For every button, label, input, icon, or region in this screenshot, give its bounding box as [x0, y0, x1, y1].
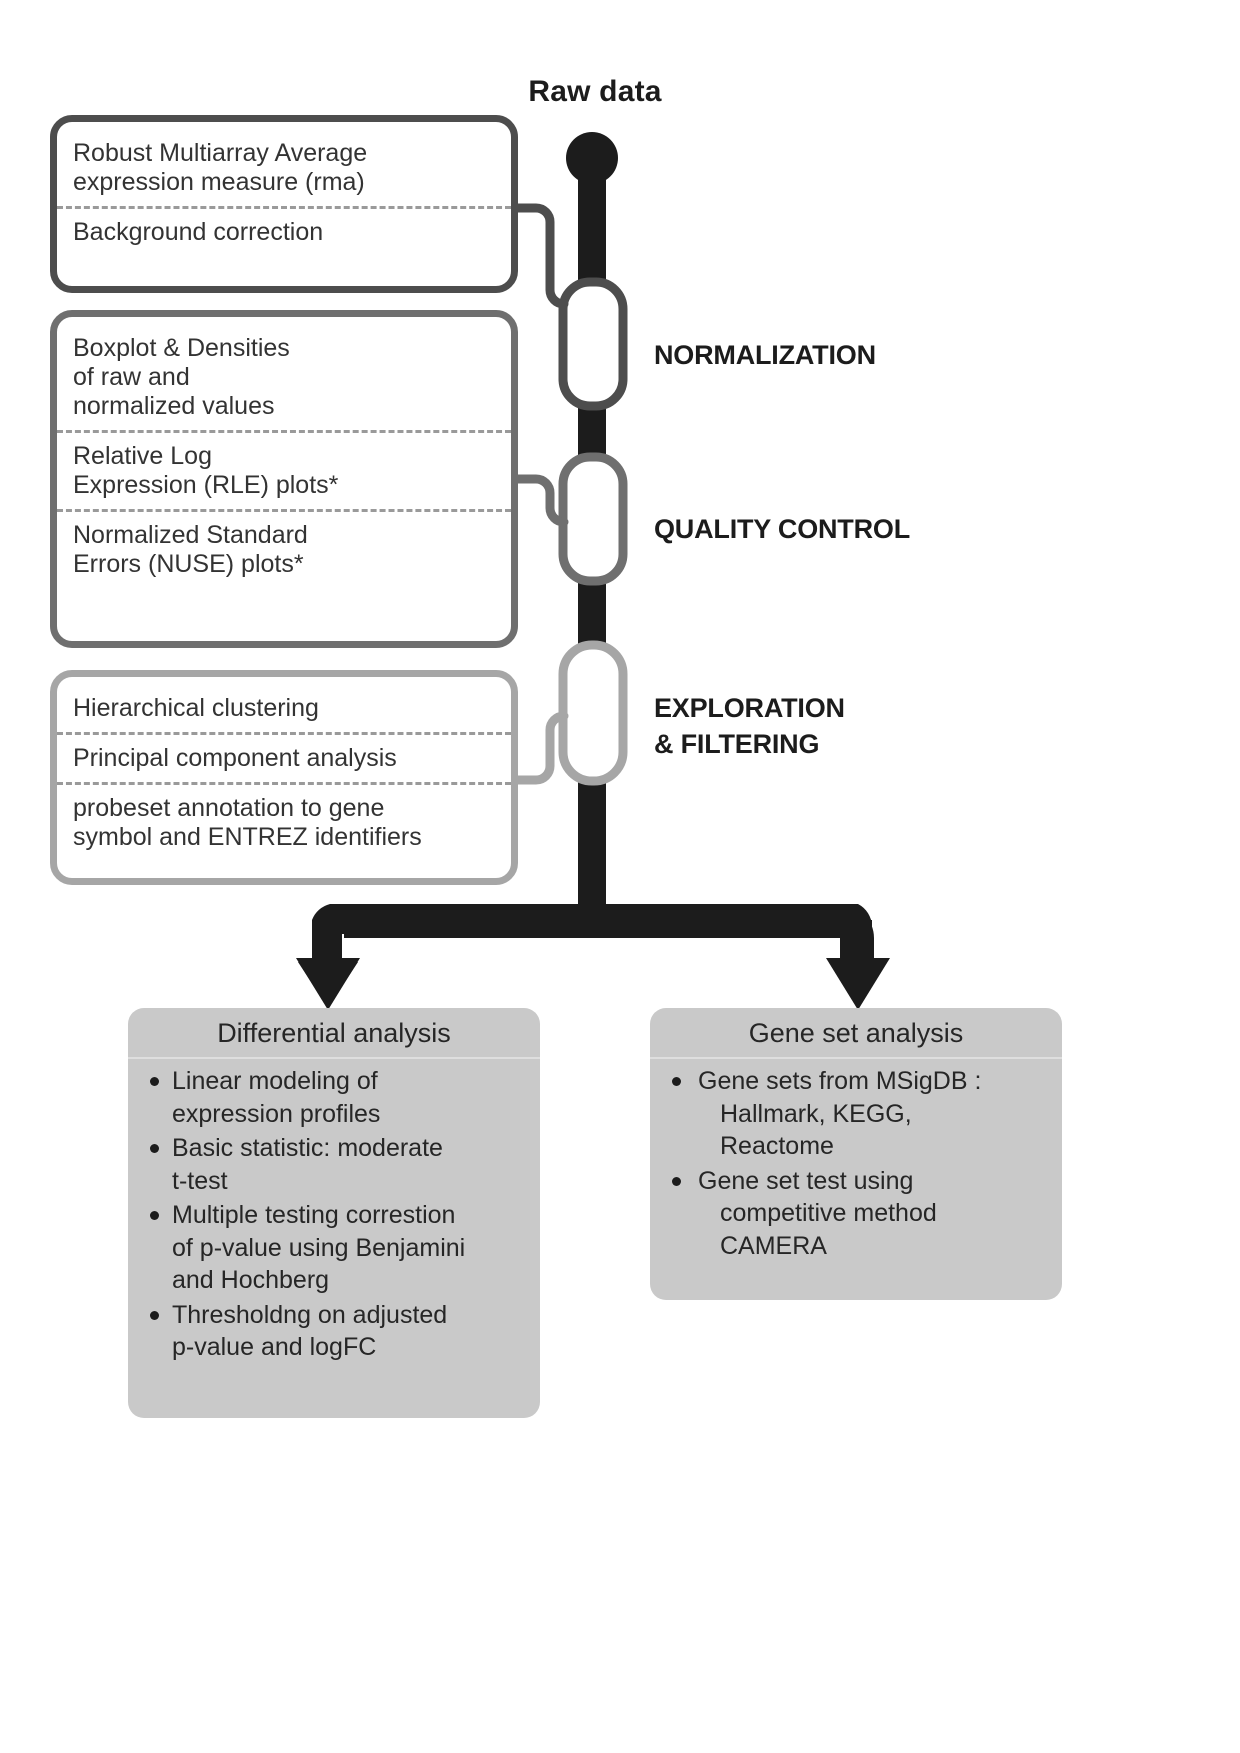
- stage-item: Background correction: [57, 206, 511, 256]
- panel-differential-analysis: Differential analysis Linear modeling of…: [128, 1008, 540, 1418]
- bullet-cont: competitive method: [698, 1197, 1048, 1230]
- panel-title: Gene set analysis: [650, 1008, 1062, 1059]
- list-item: Gene set test using competitive method C…: [664, 1165, 1048, 1263]
- spine-trunk: [566, 132, 618, 910]
- stage-box-quality-control: Boxplot & Densitiesof raw andnormalized …: [50, 310, 518, 648]
- stage-item: Normalized StandardErrors (NUSE) plots*: [57, 509, 511, 588]
- list-item: Linear modeling of expression profiles: [142, 1065, 526, 1130]
- bullet-lead: Multiple testing correstion: [172, 1201, 455, 1229]
- panel-title: Differential analysis: [128, 1008, 540, 1059]
- bullet-cont: Reactome: [698, 1130, 1048, 1163]
- bullet-icon: [150, 1311, 159, 1320]
- page-title: Raw data: [455, 75, 735, 109]
- stage-box-normalization: Robust Multiarray Averageexpression meas…: [50, 115, 518, 293]
- bullet-cont: CAMERA: [698, 1230, 1048, 1263]
- stage-item: Boxplot & Densitiesof raw andnormalized …: [57, 325, 511, 430]
- bullet-lead: Basic statistic: moderate: [172, 1134, 443, 1162]
- bullet-cont: expression profiles: [172, 1098, 526, 1131]
- workflow-diagram: Raw data Robust Multiarray Averageexpres…: [0, 0, 1240, 1753]
- bullet-icon: [150, 1077, 159, 1086]
- stage-label-exploration-filtering: EXPLORATION& FILTERING: [654, 690, 845, 763]
- bullet-cont: t-test: [172, 1165, 526, 1198]
- bullet-cont: and Hochberg: [172, 1264, 526, 1297]
- stage-item: Robust Multiarray Averageexpression meas…: [57, 130, 511, 206]
- stage-item: Relative LogExpression (RLE) plots*: [57, 430, 511, 509]
- stage-capsule-quality: [563, 457, 623, 581]
- stage-capsule-normalization: [563, 282, 623, 406]
- bullet-lead: Linear modeling of: [172, 1067, 378, 1095]
- bullet-cont: p-value and logFC: [172, 1331, 526, 1364]
- bullet-lead: Thresholdng on adjusted: [172, 1301, 447, 1329]
- list-item: Thresholdng on adjusted p-value and logF…: [142, 1299, 526, 1364]
- split-arrows: [278, 880, 906, 1020]
- stage-item: Hierarchical clustering: [57, 685, 511, 732]
- bullet-cont: Hallmark, KEGG,: [698, 1098, 1048, 1131]
- stage-label-quality-control: QUALITY CONTROL: [654, 511, 910, 547]
- stage-box-exploration-filtering: Hierarchical clustering Principal compon…: [50, 670, 518, 885]
- connector-quality: [518, 479, 564, 522]
- bullet-lead: Gene sets from MSigDB :: [698, 1067, 981, 1095]
- list-item: Basic statistic: moderate t-test: [142, 1132, 526, 1197]
- stage-label-normalization: NORMALIZATION: [654, 337, 876, 373]
- list-item: Multiple testing correstion of p-value u…: [142, 1199, 526, 1297]
- connector-normalization: [518, 208, 564, 304]
- list-item: Gene sets from MSigDB : Hallmark, KEGG, …: [664, 1065, 1048, 1163]
- bullet-icon: [672, 1077, 681, 1086]
- panel-bullet-list: Linear modeling of expression profiles B…: [128, 1059, 540, 1378]
- bullet-icon: [150, 1144, 159, 1153]
- connector-exploration: [518, 716, 564, 780]
- bullet-lead: Gene set test using: [698, 1167, 913, 1195]
- bullet-icon: [672, 1177, 681, 1186]
- stage-item: Principal component analysis: [57, 732, 511, 782]
- panel-bullet-list: Gene sets from MSigDB : Hallmark, KEGG, …: [650, 1059, 1062, 1276]
- bullet-icon: [150, 1211, 159, 1220]
- bullet-cont: of p-value using Benjamini: [172, 1232, 526, 1265]
- panel-gene-set-analysis: Gene set analysis Gene sets from MSigDB …: [650, 1008, 1062, 1300]
- stage-item: probeset annotation to genesymbol and EN…: [57, 782, 511, 861]
- stage-capsule-exploration: [563, 645, 623, 781]
